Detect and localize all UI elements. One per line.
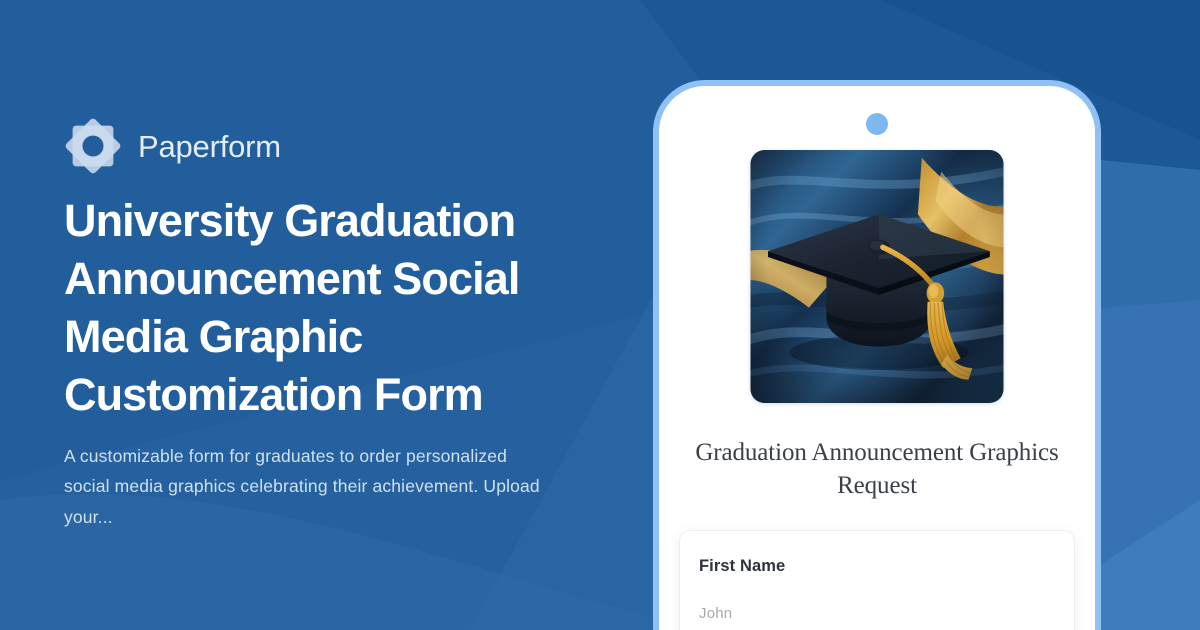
paperform-star-logo-icon [64, 117, 122, 175]
phone-mockup: Graduation Announcement Graphics Request… [653, 80, 1101, 630]
brand-name: Paperform [138, 131, 281, 162]
page-title: University Graduation Announcement Socia… [64, 192, 609, 424]
brand-logo[interactable]: Paperform [64, 117, 281, 175]
first-name-input[interactable]: John [699, 605, 1055, 630]
camera-dot-icon [866, 113, 888, 135]
form-title: Graduation Announcement Graphics Request [681, 436, 1073, 502]
hero-panel: Paperform University Graduation Announce… [0, 0, 640, 630]
page-description: A customizable form for graduates to ord… [64, 441, 544, 532]
form-hero-image [751, 150, 1004, 403]
first-name-label: First Name [699, 557, 1055, 577]
form-card: First Name John [680, 531, 1074, 630]
